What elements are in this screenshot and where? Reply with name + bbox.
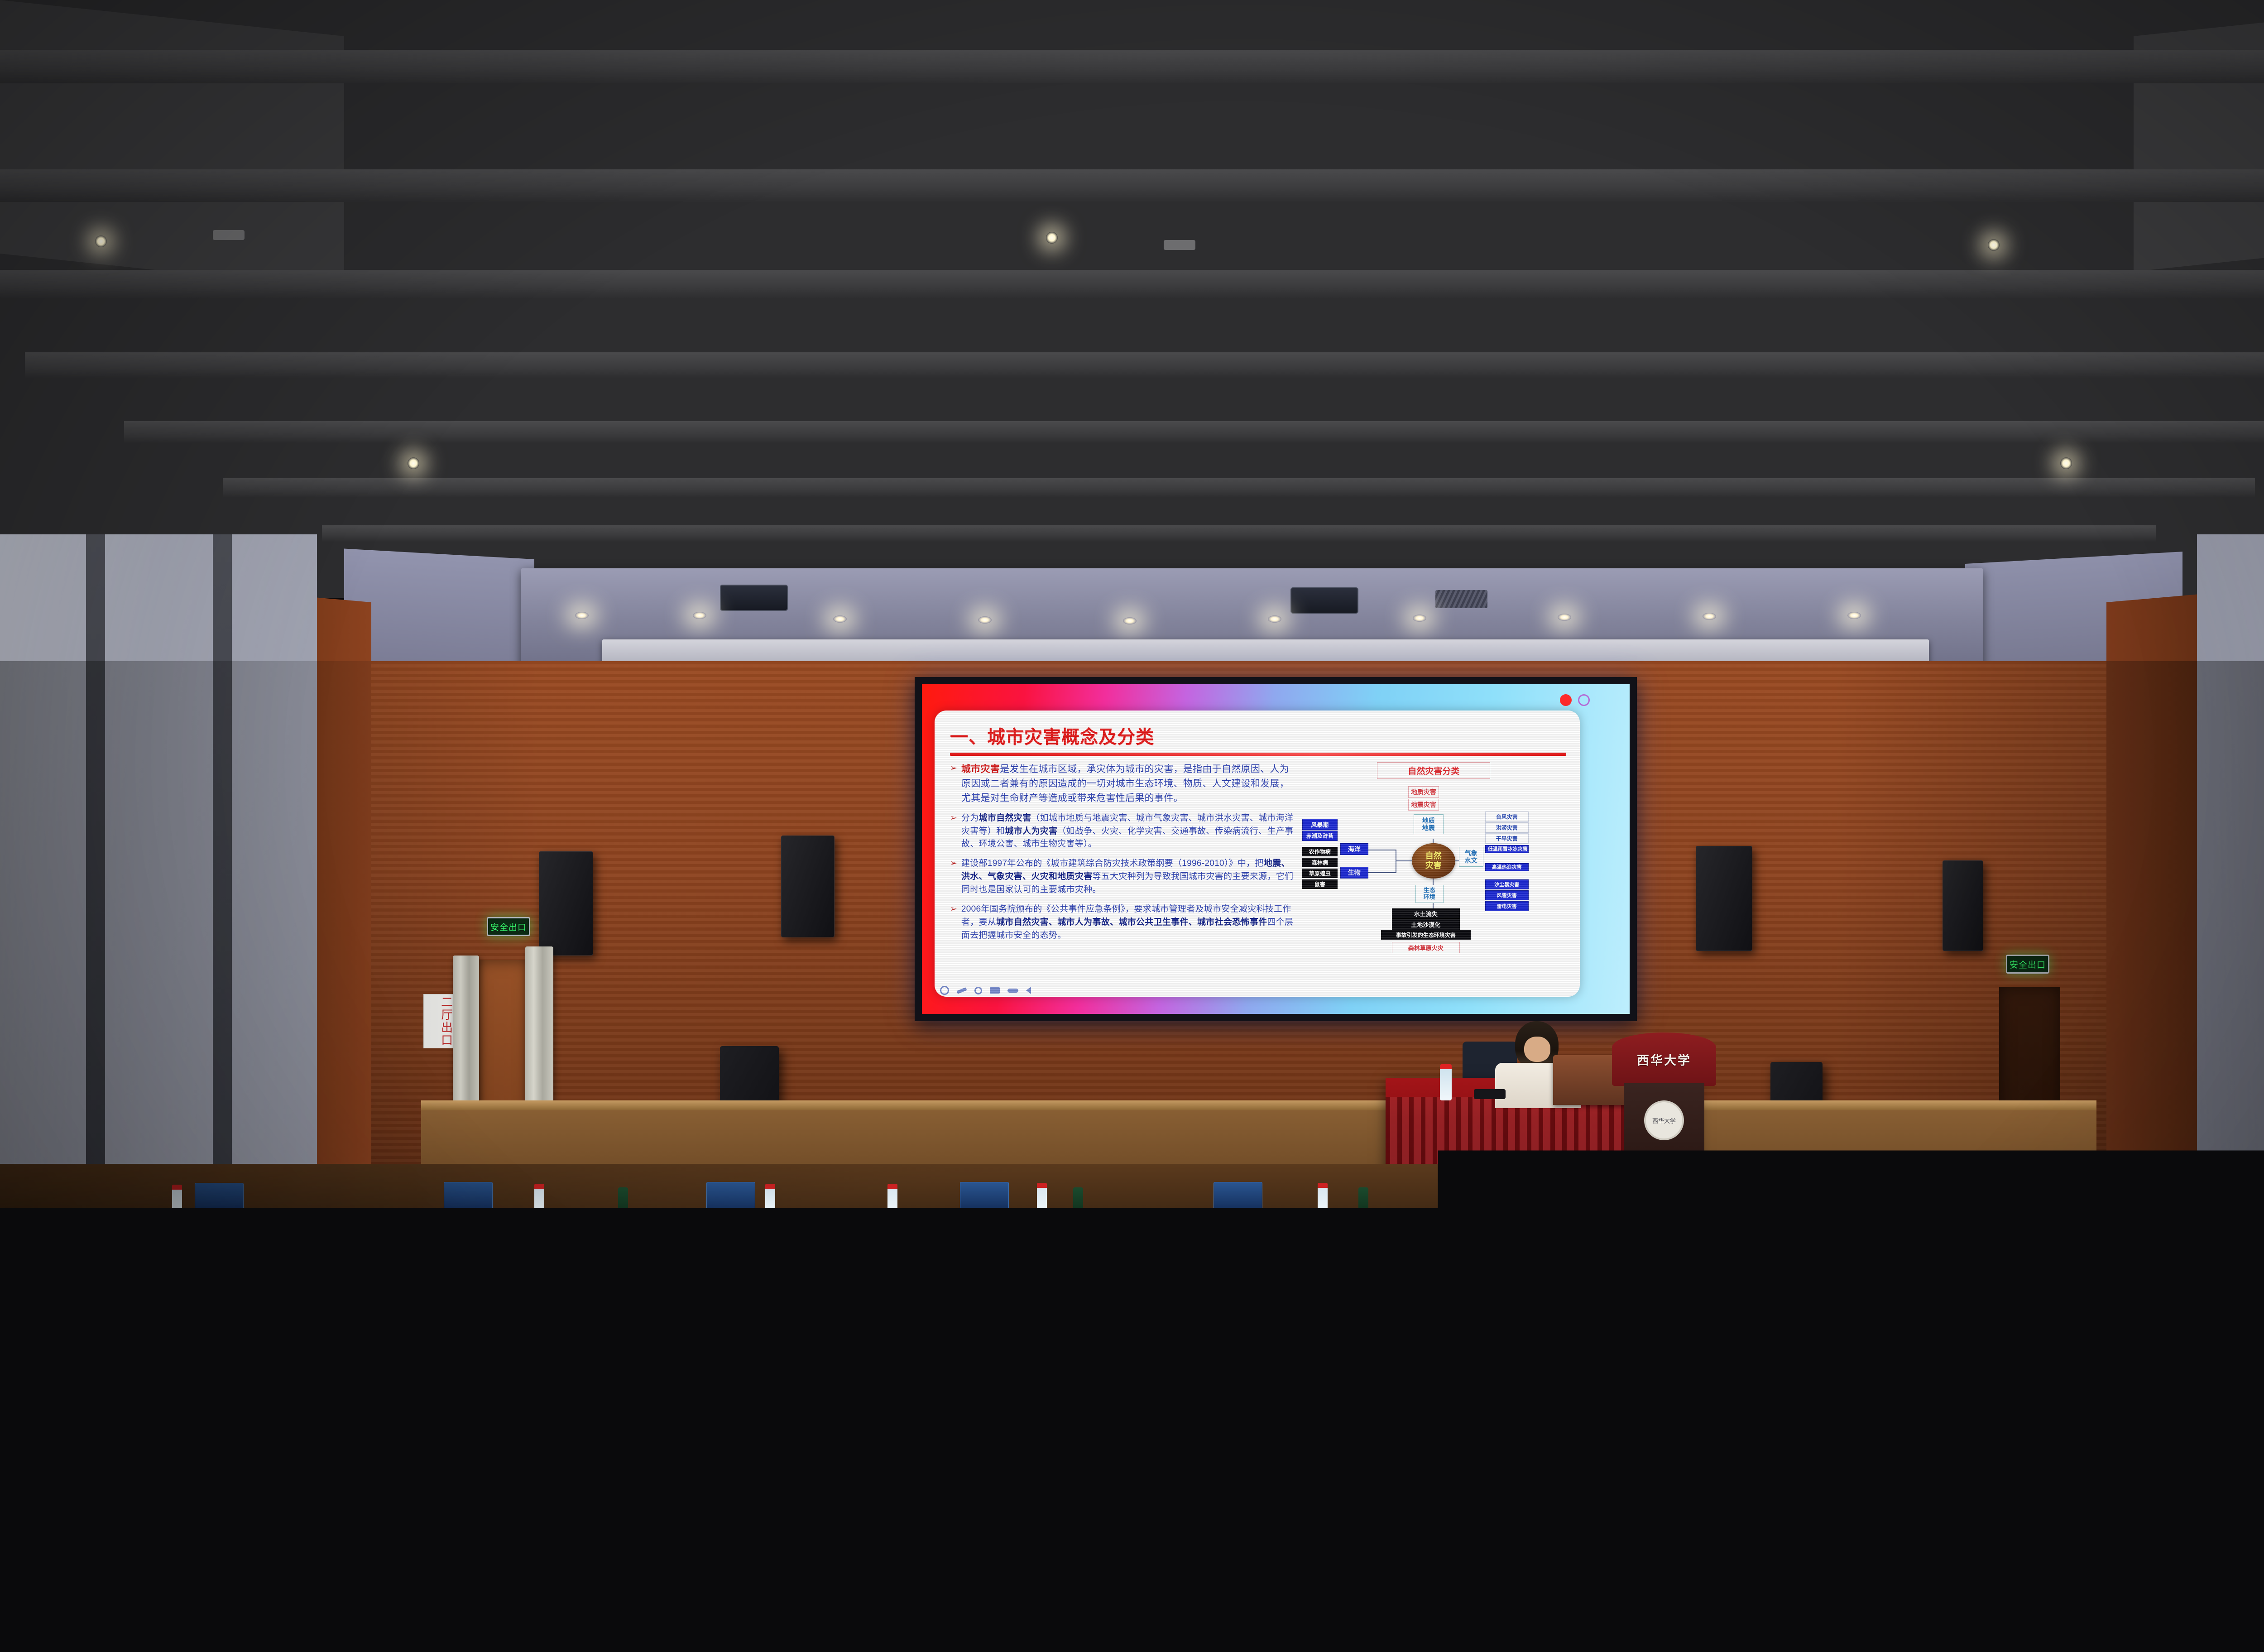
- seat: [1888, 1369, 2029, 1445]
- seat: [317, 1300, 444, 1368]
- title-underline: [950, 753, 1566, 756]
- node-hail: 风雹灾害: [1485, 890, 1529, 900]
- ceiling-spotlight: [1046, 232, 1058, 244]
- seat: [1884, 1242, 1997, 1301]
- seat: [54, 1241, 168, 1300]
- node-sandstorm: 沙尘暴灾害: [1485, 879, 1529, 889]
- bullet-text: 分为: [961, 813, 979, 823]
- audience-phone[interactable]: [1630, 1526, 1665, 1601]
- audience-head: [1666, 1426, 1775, 1544]
- water-bottle: [887, 1184, 897, 1216]
- red-dot-icon: [1560, 694, 1572, 706]
- branch-ecology: 生态 环境: [1415, 885, 1444, 903]
- ceiling-light-fixture: [213, 230, 245, 240]
- audience-head: [1752, 1228, 1828, 1314]
- branch-ocean: 海洋: [1340, 843, 1368, 855]
- node-crop-disease: 农作物病: [1302, 847, 1338, 856]
- name-placard: [706, 1182, 755, 1210]
- thermos-cup: [1358, 1187, 1368, 1217]
- recessed-downlight: [1268, 615, 1281, 623]
- wall-speaker: [781, 836, 835, 937]
- ceiling-spotlight: [1988, 239, 2000, 251]
- emergency-exit-light: 安全出口: [2006, 955, 2049, 974]
- node-soil-erosion: 水土流失: [1392, 908, 1460, 919]
- bullet-text-bold: 城市人为灾害: [1005, 826, 1057, 836]
- water-bottle: [1440, 1064, 1452, 1100]
- lecture-hall-photo: 安全出口 二厅出口 安全出口 一、城市灾害概念及分类 ➢ 城市灾害是发生在城市区…: [0, 0, 2264, 1652]
- university-seal: 西华大学: [1644, 1100, 1684, 1140]
- bullet-item: ➢ 建设部1997年公布的《城市建筑综合防灾技术政策纲要（1996-2010）》…: [950, 857, 1297, 897]
- emergency-exit-light: 安全出口: [487, 917, 530, 936]
- thermos-cup: [1073, 1187, 1083, 1217]
- ceiling-projector: [1290, 587, 1358, 614]
- water-bottle: [1318, 1183, 1328, 1215]
- slide-grid-icon[interactable]: [974, 987, 982, 994]
- seat: [1526, 1299, 1653, 1367]
- seat: [0, 1370, 140, 1447]
- bullet-item: ➢ 2006年国务院颁布的《公共事件应急条例》，要求城市管理者及城市安全减灾科技…: [950, 903, 1297, 942]
- bullet-arrow-icon: ➢: [950, 857, 957, 897]
- ceiling-spotlight: [2060, 457, 2072, 469]
- diagram-core-node: 自然 灾害: [1412, 843, 1455, 879]
- seat: 西华大学: [2182, 1548, 2264, 1652]
- air-vent: [1435, 590, 1487, 608]
- recessed-downlight: [978, 616, 992, 624]
- seat: [2160, 1243, 2264, 1301]
- name-placard: [1214, 1182, 1262, 1210]
- ceiling-projector: [720, 585, 788, 611]
- bullet-text-highlight: 城市灾害: [961, 764, 1000, 774]
- connector-line: [1368, 850, 1396, 850]
- zoom-icon[interactable]: [990, 987, 1000, 994]
- wall-speaker: [539, 851, 593, 956]
- node-lightning: 雷电灾害: [1485, 901, 1529, 911]
- laser-pointer-icon[interactable]: [956, 987, 967, 994]
- name-placard: [444, 1182, 493, 1210]
- branch-meteorology: 气象 水文: [1459, 847, 1483, 867]
- seat: [2192, 1453, 2264, 1541]
- node-red-tide: 赤潮及浒苔: [1302, 831, 1338, 841]
- audience-head: [1295, 1425, 1404, 1543]
- audience-head: [792, 1348, 885, 1450]
- front-row-laptop[interactable]: [1540, 1217, 1602, 1246]
- ceiling-beam: [25, 352, 2264, 378]
- audience-laptop[interactable]: [2182, 1377, 2264, 1449]
- branch-bio: 生物: [1340, 867, 1368, 879]
- pen-icon[interactable]: [940, 986, 949, 995]
- seat: [18, 1300, 145, 1368]
- ceiling-spotlight: [95, 235, 107, 247]
- slide-bullet-list: ➢ 城市灾害是发生在城市区域，承灾体为城市的灾害，是指由于自然原因、人为原因或二…: [950, 762, 1301, 989]
- water-bottle: [1037, 1183, 1047, 1215]
- ceiling-beam: [322, 525, 2155, 542]
- seat: [706, 1450, 869, 1538]
- audience-head: [1988, 1282, 2072, 1375]
- slide-corner-decoration: [1560, 694, 1590, 706]
- presentation-slide: 一、城市灾害概念及分类 ➢ 城市灾害是发生在城市区域，承灾体为城市的灾害，是指由…: [935, 711, 1580, 997]
- presenter-face: [1524, 1037, 1550, 1062]
- led-video-wall[interactable]: 一、城市灾害概念及分类 ➢ 城市灾害是发生在城市区域，承灾体为城市的灾害，是指由…: [915, 677, 1637, 1021]
- bullet-arrow-icon: ➢: [950, 812, 957, 851]
- ceiling-beam: [0, 169, 2264, 202]
- seat: [924, 1298, 1050, 1366]
- name-placard: [1472, 1183, 1521, 1211]
- seat-cover-logo: 西华大学: [408, 1592, 602, 1618]
- water-bottle: [534, 1184, 544, 1216]
- node-heat-wave: 高温热浪灾害: [1485, 863, 1529, 871]
- name-placard: [960, 1182, 1009, 1210]
- bullet-arrow-icon: ➢: [950, 762, 957, 806]
- water-bottle: [765, 1184, 775, 1216]
- wall-speaker: [1696, 846, 1752, 951]
- recessed-downlight: [1558, 614, 1571, 621]
- node-drought: 干旱灾害: [1485, 833, 1529, 844]
- diagram-title: 自然灾害分类: [1377, 762, 1490, 779]
- circle-outline-icon: [1578, 694, 1590, 706]
- audience-head: [2038, 1427, 2146, 1546]
- bullet-text-bold: 城市自然灾害: [979, 813, 1031, 823]
- water-bottle: [2169, 1186, 2179, 1218]
- bullet-arrow-icon: ➢: [950, 903, 957, 942]
- connector-line: [1368, 872, 1396, 873]
- thermos-cup: [618, 1187, 628, 1217]
- bullet-text: 是发生在城市区域，承灾体为城市的灾害，是指由于自然原因、人为原因或二者兼有的原因…: [961, 764, 1289, 803]
- wall-speaker: [1943, 860, 1983, 951]
- recessed-downlight: [1123, 617, 1137, 624]
- node-geo-disaster: 地质灾害: [1408, 786, 1439, 798]
- node-forest-grassland-fire: 森林草原火灾: [1392, 942, 1460, 953]
- previous-slide-icon[interactable]: [1026, 987, 1031, 994]
- name-placard: [195, 1183, 244, 1211]
- seat: [1223, 1298, 1349, 1366]
- ceiling-beam: [223, 478, 2254, 497]
- recessed-downlight: [1413, 615, 1426, 622]
- desk-microphone: [1474, 1089, 1506, 1099]
- node-desertification: 土地沙漠化: [1392, 919, 1460, 930]
- seat-cover-logo: 西华大学: [0, 1491, 163, 1508]
- stage-edge: [421, 1100, 2096, 1110]
- connector-line: [1396, 850, 1396, 873]
- seat: [1603, 1241, 1716, 1300]
- node-grassland-locust: 草原蝗虫: [1302, 869, 1338, 878]
- ceiling-spotlight: [408, 457, 419, 469]
- audience-area: 西华大学 西华大学 西华大学 西华大学 西华大学 西华大学 西华大学: [0, 1164, 2264, 1652]
- node-forest-disease: 森林病: [1302, 858, 1338, 867]
- bullet-text: 建设部1997年公布的《城市建筑综合防灾技术政策纲要（1996-2010）》中，…: [961, 859, 1264, 868]
- branch-geo: 地质 地震: [1414, 814, 1444, 834]
- water-bottle: [1893, 1185, 1903, 1217]
- ceiling-beam: [0, 270, 2264, 298]
- seat: 西华大学: [1739, 1545, 1933, 1652]
- more-options-icon[interactable]: [1007, 989, 1018, 993]
- water-bottle: [172, 1185, 182, 1217]
- ceiling-beam: [0, 50, 2264, 83]
- soffit-left: [344, 549, 534, 672]
- connector-line: [1433, 902, 1434, 908]
- audience-head: [1435, 1347, 1528, 1449]
- name-placard: [1739, 1184, 1788, 1212]
- slide-title: 一、城市灾害概念及分类: [950, 722, 1566, 749]
- seat: 西华大学: [0, 1454, 163, 1542]
- audience-head: [471, 1349, 564, 1450]
- water-bottle: [1648, 1184, 1658, 1216]
- recessed-downlight: [1703, 613, 1716, 620]
- ceiling-light-fixture: [1164, 240, 1195, 250]
- recessed-downlight: [693, 612, 706, 619]
- node-earthquake-disaster: 地震灾害: [1408, 799, 1439, 811]
- seat-cover-logo: 西华大学: [2182, 1594, 2264, 1620]
- seat: [1829, 1300, 1956, 1368]
- name-placard: [2006, 1185, 2055, 1213]
- node-typhoon: 台风灾害: [1485, 812, 1529, 822]
- seat-cover-logo: 西华大学: [1295, 1589, 1490, 1615]
- powerpoint-presenter-toolbar[interactable]: [940, 986, 1031, 995]
- ceiling-beam: [124, 421, 2264, 443]
- recessed-downlight: [833, 615, 847, 623]
- recessed-downlight: [575, 612, 589, 619]
- audience-head: [1757, 1348, 1850, 1450]
- audience-head: [924, 1426, 1032, 1544]
- bullet-item: ➢ 城市灾害是发生在城市区域，承灾体为城市的灾害，是指由于自然原因、人为原因或二…: [950, 762, 1297, 806]
- node-cold-snow-ice: 低温雨雪冰冻灾害: [1485, 845, 1529, 853]
- audience-head: [1114, 1347, 1207, 1449]
- seat: [1567, 1368, 1707, 1445]
- recessed-downlight: [1847, 612, 1861, 619]
- ceiling: [0, 0, 2264, 598]
- seat-cover-logo: 西华大学: [335, 1489, 498, 1506]
- audience-laptop[interactable]: [801, 1562, 951, 1652]
- audience-head: [1684, 1282, 1768, 1374]
- seat: [620, 1299, 747, 1367]
- ceiling-light-band: [0, 306, 2131, 341]
- seat: [281, 1369, 421, 1445]
- bullet-item: ➢ 分为城市自然灾害（如城市地质与地震灾害、城市气象灾害、城市洪水灾害、城市海洋…: [950, 812, 1297, 851]
- connector-line: [1396, 860, 1414, 861]
- disaster-classification-diagram: 自然灾害分类 地质灾害 地震灾害: [1301, 762, 1566, 989]
- node-storm-surge: 风暴潮: [1302, 819, 1338, 830]
- seat-cover-logo: 西华大学: [1739, 1591, 1933, 1617]
- node-rodent-damage: 鼠害: [1302, 879, 1338, 889]
- seat: 西华大学: [335, 1452, 498, 1540]
- node-flood: 洪涝灾害: [1485, 822, 1529, 833]
- ceiling-light-band: [0, 0, 2264, 54]
- lectern-nameplate: 西华大学: [1612, 1032, 1716, 1086]
- node-accident-eco-disaster: 事故引发的生态环境灾害: [1381, 930, 1471, 940]
- bullet-text-bold: 城市自然灾害、城市人为事故、城市公共卫生事件、城市社会恐怖事件: [996, 917, 1267, 927]
